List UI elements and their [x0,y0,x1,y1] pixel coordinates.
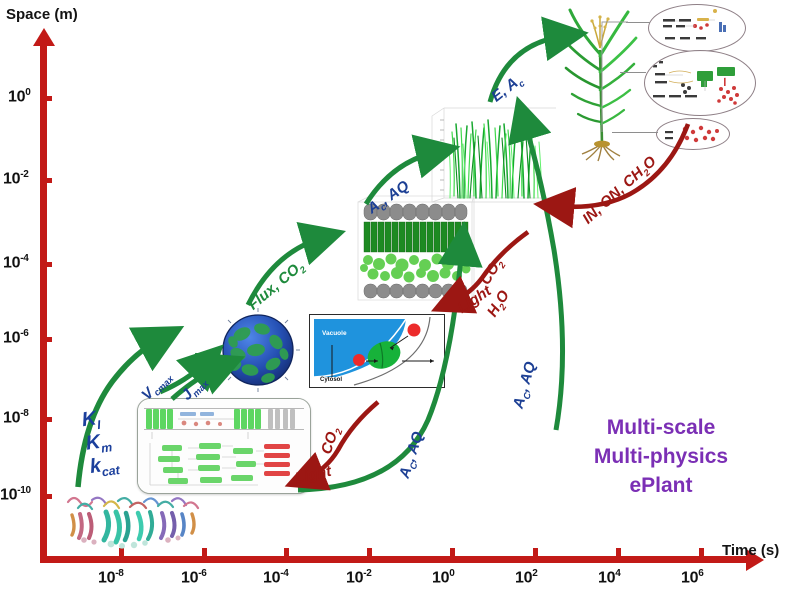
label-kcat: kcat [88,452,120,481]
label-kcat-sub: cat [101,463,121,479]
tagline-line-2: Multi-physics [566,443,756,472]
arrow-feedback-canopy [298,246,462,490]
tagline-block: Multi-scale Multi-physics ePlant [566,414,756,501]
figure-canvas: Space (m) Time (s) 100 10-2 10-4 10-6 10… [0,0,800,599]
upscaling-arrows-layer [0,0,800,599]
tagline-line-3: ePlant [566,472,756,501]
tagline-line-1: Multi-scale [566,414,756,443]
